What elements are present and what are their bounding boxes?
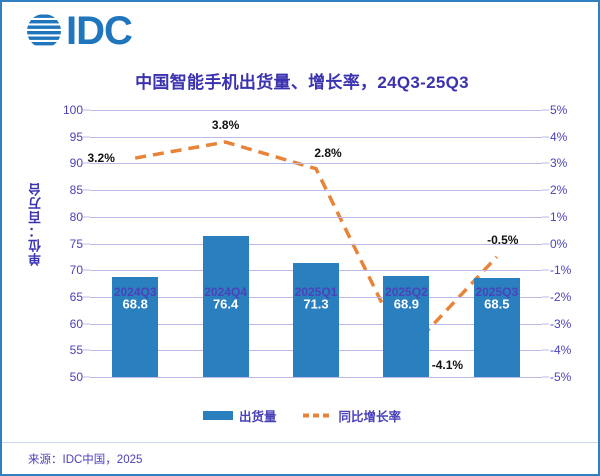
x-tick-label: 2024Q3 <box>114 285 157 299</box>
y-tickmark-left <box>83 136 90 137</box>
y-tick-label-right: 5% <box>550 103 567 117</box>
y-tick-label-right: 3% <box>550 156 567 170</box>
legend-item-shipments[interactable]: 出货量 <box>203 406 277 425</box>
legend-swatch-dashed-line-icon <box>303 411 333 420</box>
y-tick-label-left: 55 <box>70 343 83 357</box>
y-tick-label-right: 2% <box>550 183 567 197</box>
logo-text: IDC <box>66 11 132 51</box>
y-tickmark-left <box>83 110 90 111</box>
y-tick-label-right: -1% <box>550 263 571 277</box>
x-axis: 2024Q32024Q42025Q12025Q22025Q3 <box>90 285 542 307</box>
y-tick-label-left: 50 <box>70 370 83 384</box>
striped-globe-icon <box>24 11 64 51</box>
x-tick-label: 2024Q4 <box>204 285 247 299</box>
y-tickmark-right <box>542 163 549 164</box>
gridline <box>90 137 542 138</box>
line-value-label: 3.8% <box>210 117 241 133</box>
gridline <box>90 190 542 191</box>
gridline <box>90 110 542 111</box>
y-tick-label-right: -5% <box>550 370 571 384</box>
footer-divider <box>2 442 600 443</box>
y-tickmark-right <box>542 190 549 191</box>
legend-item-growth[interactable]: 同比增长率 <box>303 406 402 425</box>
y-tick-label-left: 85 <box>70 183 83 197</box>
y-tickmark-right <box>542 136 549 137</box>
legend-label-shipments: 出货量 <box>239 406 277 425</box>
y-tick-label-right: -2% <box>550 290 571 304</box>
y-tickmark-left <box>83 270 90 271</box>
y-tickmark-left <box>83 323 90 324</box>
y-tickmark-right <box>542 270 549 271</box>
gridline <box>90 244 542 245</box>
idc-logo: IDC <box>24 11 132 51</box>
y-tickmark-left <box>83 243 90 244</box>
y-tick-label-left: 60 <box>70 317 83 331</box>
y-tickmark-right <box>542 296 549 297</box>
line-value-label: 2.8% <box>312 145 343 161</box>
y-tick-label-right: 0% <box>550 237 567 251</box>
chart-card: IDC 中国智能手机出货量、增长率，24Q3-25Q3 单位：百万台 10095… <box>0 0 600 476</box>
source-note: 来源：IDC中国，2025 <box>28 451 142 467</box>
y-tick-label-left: 80 <box>70 210 83 224</box>
x-tick-label: 2025Q2 <box>385 285 428 299</box>
bar[interactable] <box>293 263 339 377</box>
legend-label-growth: 同比增长率 <box>339 406 402 425</box>
gridline <box>90 163 542 164</box>
y-tickmark-left <box>83 377 90 378</box>
line-value-label: -4.1% <box>430 357 465 373</box>
y-tick-label-left: 100 <box>63 103 83 117</box>
y-tickmark-left <box>83 296 90 297</box>
y-tickmark-right <box>542 243 549 244</box>
gridline <box>90 217 542 218</box>
y-tick-label-left: 95 <box>70 130 83 144</box>
y-tickmark-left <box>83 190 90 191</box>
chart-title: 中国智能手机出货量、增长率，24Q3-25Q3 <box>2 68 600 93</box>
y-tick-label-left: 65 <box>70 290 83 304</box>
y-tick-label-right: -4% <box>550 343 571 357</box>
line-value-label: 3.2% <box>86 150 117 166</box>
y-tickmark-right <box>542 377 549 378</box>
plot-area: 100959085807570656055505%4%3%2%1%0%-1%-2… <box>90 110 542 377</box>
x-tick-label: 2025Q3 <box>475 285 518 299</box>
plot-wrapper: 100959085807570656055505%4%3%2%1%0%-1%-2… <box>2 98 600 398</box>
gridline <box>90 377 542 378</box>
x-tick-label: 2025Q1 <box>295 285 338 299</box>
line-value-label: -0.5% <box>485 232 520 248</box>
y-tickmark-left <box>83 216 90 217</box>
y-tickmark-right <box>542 350 549 351</box>
y-tick-label-left: 75 <box>70 237 83 251</box>
header: IDC <box>2 2 600 60</box>
y-tick-label-left: 90 <box>70 156 83 170</box>
y-tickmark-right <box>542 216 549 217</box>
y-tick-label-right: 1% <box>550 210 567 224</box>
chart-legend: 出货量 同比增长率 <box>2 406 600 425</box>
y-tick-label-right: -3% <box>550 317 571 331</box>
y-tickmark-right <box>542 110 549 111</box>
y-tickmark-right <box>542 323 549 324</box>
y-tickmark-left <box>83 350 90 351</box>
y-tick-label-left: 70 <box>70 263 83 277</box>
legend-swatch-bar-icon <box>203 411 233 420</box>
y-tick-label-right: 4% <box>550 130 567 144</box>
